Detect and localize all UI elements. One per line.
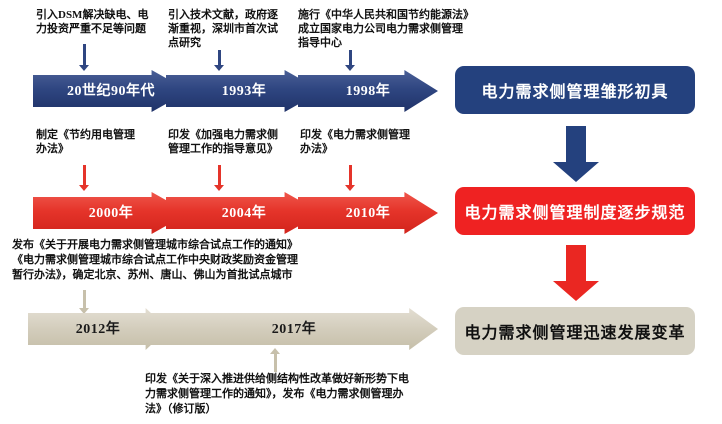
milestone-label: 2017年 (272, 318, 317, 338)
note-2017: 印发《关于深入推进供给侧结构性改革做好新形势下电 力需求侧管理工作的通知》，发布… (145, 372, 445, 417)
timeline-diagram: 引入DSM解决缺电、电 力投资严重不足等问题 引入技术文献，政府逐 渐重视，深圳… (0, 0, 722, 424)
connector-stem (218, 50, 221, 66)
connector-note-1993 (214, 50, 224, 71)
arrow-shaft (566, 126, 586, 162)
milestone-label: 2010年 (346, 202, 391, 222)
outcome-label: 电力需求侧管理迅速发展变革 (464, 319, 685, 343)
connector-note-1998 (345, 50, 355, 71)
note-1990s: 引入DSM解决缺电、电 力投资严重不足等问题 (36, 8, 172, 36)
milestone-label: 2012年 (76, 318, 121, 338)
connector-arrowhead (79, 185, 89, 191)
flow-arrow-blue (553, 126, 599, 182)
note-2010: 印发《电力需求侧管理 办法》 (300, 128, 440, 156)
connector-note-2004 (214, 165, 224, 191)
connector-arrowhead (345, 185, 355, 191)
connector-note-1990s (79, 44, 89, 71)
outcome-box-1[interactable]: 电力需求侧管理雏形初具 (455, 66, 695, 114)
connector-arrowhead (345, 65, 355, 71)
milestone-2000[interactable]: 2000年 (33, 192, 189, 234)
milestone-label: 2000年 (89, 202, 134, 222)
connector-note-2010 (345, 165, 355, 191)
connector-note-2017 (270, 348, 280, 372)
milestone-2010[interactable]: 2010年 (298, 192, 438, 234)
milestone-2012[interactable]: 2012年 (28, 308, 168, 350)
outcome-label: 电力需求侧管理制度逐步规范 (464, 199, 685, 223)
outcome-box-2[interactable]: 电力需求侧管理制度逐步规范 (455, 187, 695, 235)
note-1998: 施行《中华人民共和国节约能源法》 成立国家电力公司电力需求侧管理 指导中心 (298, 8, 538, 50)
milestone-label: 2004年 (222, 202, 267, 222)
milestone-label: 20世纪90年代 (67, 80, 155, 100)
note-1993: 引入技术文献，政府逐 渐重视，深圳市首次试 点研究 (168, 8, 300, 50)
outcome-label: 电力需求侧管理雏形初具 (481, 78, 668, 102)
connector-arrowhead (270, 348, 280, 354)
connector-stem (349, 165, 352, 186)
milestone-2017[interactable]: 2017年 (150, 308, 438, 350)
connector-stem (83, 165, 86, 186)
outcome-box-3[interactable]: 电力需求侧管理迅速发展变革 (455, 307, 695, 355)
connector-stem (83, 290, 86, 309)
milestone-label: 1998年 (346, 80, 391, 100)
connector-arrowhead (79, 65, 89, 71)
connector-arrowhead (214, 65, 224, 71)
connector-stem (83, 44, 86, 66)
connector-note-2000 (79, 165, 89, 191)
milestone-label: 1993年 (222, 80, 267, 100)
connector-note-2012 (79, 290, 89, 314)
connector-arrowhead (214, 185, 224, 191)
arrow-tip (553, 162, 599, 182)
connector-stem (218, 165, 221, 186)
note-2004: 印发《加强电力需求侧 管理工作的指导意见》 (168, 128, 308, 156)
arrow-shaft (566, 245, 586, 281)
connector-stem (274, 353, 277, 372)
milestone-1990s[interactable]: 20世纪90年代 (33, 70, 189, 112)
arrow-tip (553, 281, 599, 301)
footnote-red-row: 发布《关于开展电力需求侧管理城市综合试点工作的通知》 《电力需求侧管理城市综合试… (12, 238, 442, 283)
milestone-1998[interactable]: 1998年 (298, 70, 438, 112)
flow-arrow-red (553, 245, 599, 301)
connector-stem (349, 50, 352, 66)
note-2000: 制定《节约用电管理 办法》 (36, 128, 172, 156)
